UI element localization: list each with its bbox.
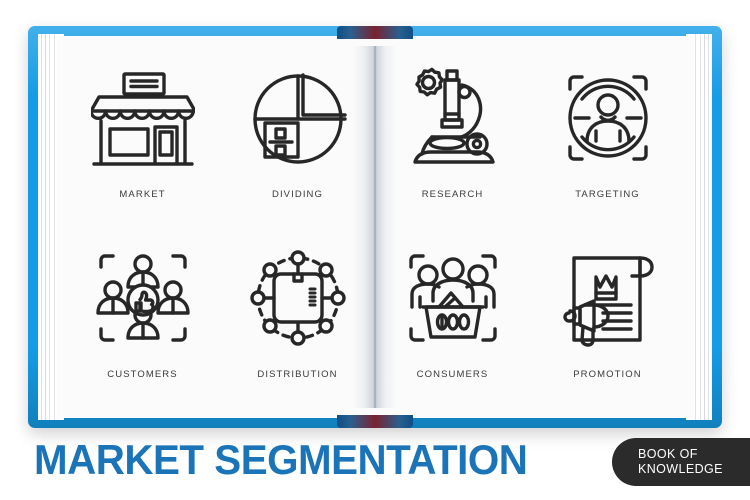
page-title: MARKET SEGMENTATION bbox=[34, 436, 527, 484]
bookmark-ribbon-top bbox=[337, 26, 413, 39]
bookmark-ribbon-bottom bbox=[337, 415, 413, 428]
icon-label: DISTRIBUTION bbox=[257, 369, 337, 380]
people-basket-icon bbox=[393, 236, 513, 361]
icon-label: CUSTOMERS bbox=[107, 369, 177, 380]
icon-cell-targeting[interactable]: TARGETING bbox=[530, 50, 685, 230]
icon-cell-customers[interactable]: CUSTOMERS bbox=[65, 230, 220, 410]
icon-cell-market[interactable]: MARKET bbox=[65, 50, 220, 230]
microscope-gear-icon bbox=[393, 56, 513, 181]
people-thumbsup-icon bbox=[83, 236, 203, 361]
pie-divide-icon bbox=[238, 56, 358, 181]
person-target-icon bbox=[548, 56, 668, 181]
book-spine-gutter bbox=[353, 46, 397, 408]
icon-cell-research[interactable]: RESEARCH bbox=[375, 50, 530, 230]
book-pages: MARKET bbox=[57, 36, 693, 418]
icon-label: PROMOTION bbox=[573, 369, 641, 380]
icon-cell-consumers[interactable]: CONSUMERS bbox=[375, 230, 530, 410]
book-of-knowledge-badge[interactable]: BOOK OF KNOWLEDGE bbox=[612, 438, 750, 486]
icon-label: TARGETING bbox=[575, 189, 640, 200]
badge-line-1: BOOK OF bbox=[638, 447, 734, 462]
megaphone-scroll-icon bbox=[548, 236, 668, 361]
footer: MARKET SEGMENTATION BOOK OF KNOWLEDGE bbox=[0, 428, 750, 500]
badge-line-2: KNOWLEDGE bbox=[638, 462, 734, 477]
open-book: MARKET bbox=[28, 26, 722, 428]
storefront-icon bbox=[83, 56, 203, 181]
box-network-icon bbox=[238, 236, 358, 361]
icon-label: DIVIDING bbox=[272, 189, 323, 200]
icon-label: CONSUMERS bbox=[417, 369, 489, 380]
icon-cell-dividing[interactable]: DIVIDING bbox=[220, 50, 375, 230]
icon-label: MARKET bbox=[119, 189, 165, 200]
icon-cell-distribution[interactable]: DISTRIBUTION bbox=[220, 230, 375, 410]
icon-cell-promotion[interactable]: PROMOTION bbox=[530, 230, 685, 410]
icon-label: RESEARCH bbox=[422, 189, 484, 200]
